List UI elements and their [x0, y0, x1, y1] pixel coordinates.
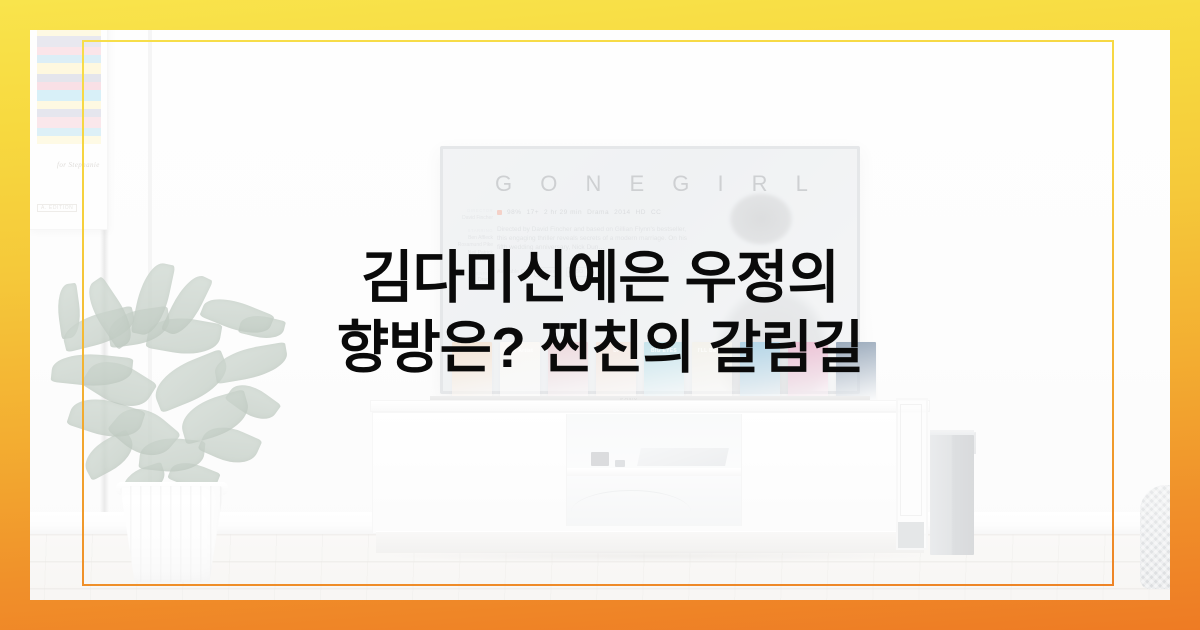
- dvd-poster-title: BIG EYES: [644, 348, 684, 354]
- dvd-poster: [548, 342, 588, 402]
- artwork-stripe: [37, 101, 101, 109]
- dvd-poster-title: DI: [596, 348, 636, 354]
- tv-starring-label: STARRING: [457, 227, 493, 235]
- tv-star-2: Rosamund Pike: [457, 242, 493, 250]
- tv-duration: 2 hr 29 min: [544, 209, 582, 216]
- framed-artwork: for Stephanie A. EDITION: [28, 8, 108, 230]
- plant-pot: [120, 486, 224, 582]
- tv-meta-row: 98% 17+ 2 hr 29 min Drama 2014 HD CC: [497, 209, 661, 216]
- tv-star-1: Ben Affleck: [457, 235, 493, 243]
- stand-top-surface: [370, 400, 930, 412]
- poster-canvas: for Stephanie A. EDITION G O N E G I R L…: [0, 0, 1200, 630]
- dvd-poster: DI: [596, 342, 636, 402]
- artwork-stripe: [37, 74, 101, 82]
- tv-director-label: DIRECTOR: [457, 207, 493, 215]
- floor-box: [898, 522, 924, 548]
- artwork-stripe: [37, 109, 101, 117]
- tv-tag-itunes: iTunes: [534, 267, 560, 277]
- artwork-stripe: [37, 136, 101, 144]
- media-device-player: [637, 448, 729, 466]
- shelf-divider: [567, 468, 741, 476]
- dvd-poster-title: The Artist: [500, 348, 540, 354]
- dvd-poster: BIG EYES: [644, 342, 684, 402]
- cable-loop: [571, 490, 691, 512]
- dvd-poster: I'LL BE ME: [692, 342, 732, 402]
- tv-genre: Drama: [587, 209, 609, 216]
- tv-tag-hbo: HBO: [566, 267, 588, 277]
- tv-star-3: Neil Patrick Harris: [457, 250, 493, 265]
- dvd-poster: [452, 342, 492, 402]
- tower-speaker: [930, 435, 974, 555]
- dvd-poster: The Artist: [500, 342, 540, 402]
- tv-movie-title: G O N E G I R L: [495, 171, 819, 197]
- artwork-stripe: [37, 20, 101, 28]
- tv-genres-value: Drama: [457, 277, 493, 285]
- tv-stand: [370, 400, 930, 532]
- stand-open-shelf: [566, 414, 742, 526]
- tv-director-name: David Fincher: [457, 215, 493, 223]
- tv-genres-label: GENRES: [457, 270, 493, 278]
- dvd-poster-row: The ArtistDIBIG EYESI'LL BE ME: [452, 336, 876, 402]
- artwork-stripe: [37, 117, 101, 128]
- tv-availability-row: Available On iTunes HBO: [497, 267, 588, 277]
- artwork-stripe: [37, 9, 101, 20]
- artwork-stripe: [37, 47, 101, 55]
- wall-frame-right-inner: [900, 404, 922, 516]
- tv-score: 98%: [507, 209, 522, 216]
- dvd-poster-title: I'LL BE ME: [692, 348, 732, 354]
- tv-year: 2014: [614, 209, 630, 216]
- artwork-stripe: [37, 82, 101, 90]
- tv-rating: 17+: [527, 209, 540, 216]
- tv-badge-hd: HD: [636, 209, 646, 216]
- artwork-stripe: [37, 28, 101, 36]
- dvd-poster: [788, 342, 828, 402]
- artwork-stripe: [37, 144, 101, 155]
- artwork-stripe: [37, 128, 101, 136]
- artwork-stripe: [37, 90, 101, 101]
- potted-plant: [52, 268, 302, 568]
- dvd-poster: [836, 342, 876, 402]
- dvd-poster: [740, 342, 780, 402]
- artwork-label-text: A. EDITION: [37, 204, 77, 212]
- tv-credits: DIRECTOR David Fincher STARRING Ben Affl…: [457, 207, 493, 285]
- score-dot-icon: [497, 210, 502, 215]
- artwork-label: A. EDITION: [33, 205, 77, 211]
- tv-description: Directed by David Fincher and based on G…: [497, 225, 693, 252]
- media-device-receiver: [591, 452, 609, 466]
- artwork-stripes: [37, 9, 101, 159]
- media-device-small: [615, 460, 625, 467]
- artwork-stripe: [37, 55, 101, 63]
- stand-floor-shadow: [390, 550, 920, 562]
- plant-leaf: [212, 342, 290, 384]
- artwork-stripe: [37, 36, 101, 47]
- artwork-stripe: [37, 63, 101, 74]
- tv-available-label: Available On: [497, 269, 528, 275]
- knitted-pouf: [1140, 485, 1200, 589]
- artwork-signature: for Stephanie: [57, 161, 100, 169]
- tv-badge-cc: CC: [651, 209, 661, 216]
- living-room-photo: for Stephanie A. EDITION G O N E G I R L…: [0, 0, 1200, 630]
